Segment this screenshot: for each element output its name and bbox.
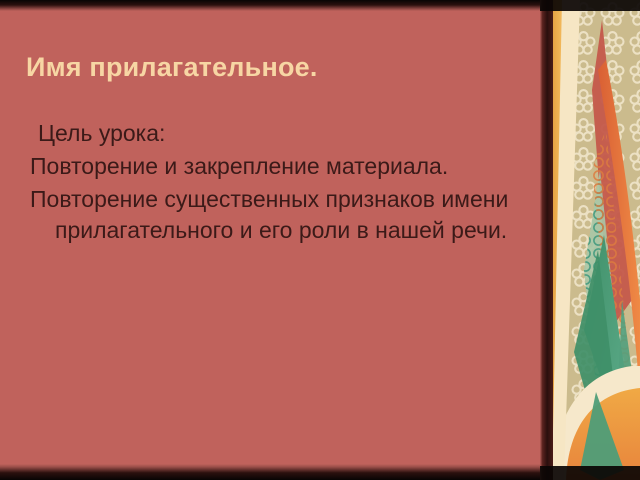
presentation-slide: Имя прилагательное. Цель урока: Повторен… [0,0,640,480]
slide-content-area: Имя прилагательное. Цель урока: Повторен… [0,0,540,480]
page-title: Имя прилагательное. [26,50,526,84]
deco-maroon-edge [540,0,553,480]
objective-item-1: Повторение и закрепление материала. [22,151,522,182]
decorative-floral-border [540,0,640,480]
slide-text-block: Цель урока: Повторение и закрепление мат… [22,118,522,248]
top-edge-vignette [0,0,540,11]
deco-top-vignette [540,0,640,11]
deco-bottom-vignette [540,466,640,480]
bottom-edge-vignette [0,464,540,480]
objective-heading: Цель урока: [22,118,522,149]
decorative-ribbon-graphic [540,0,640,480]
objective-item-2: Повторение существенных признаков имени … [22,184,522,246]
